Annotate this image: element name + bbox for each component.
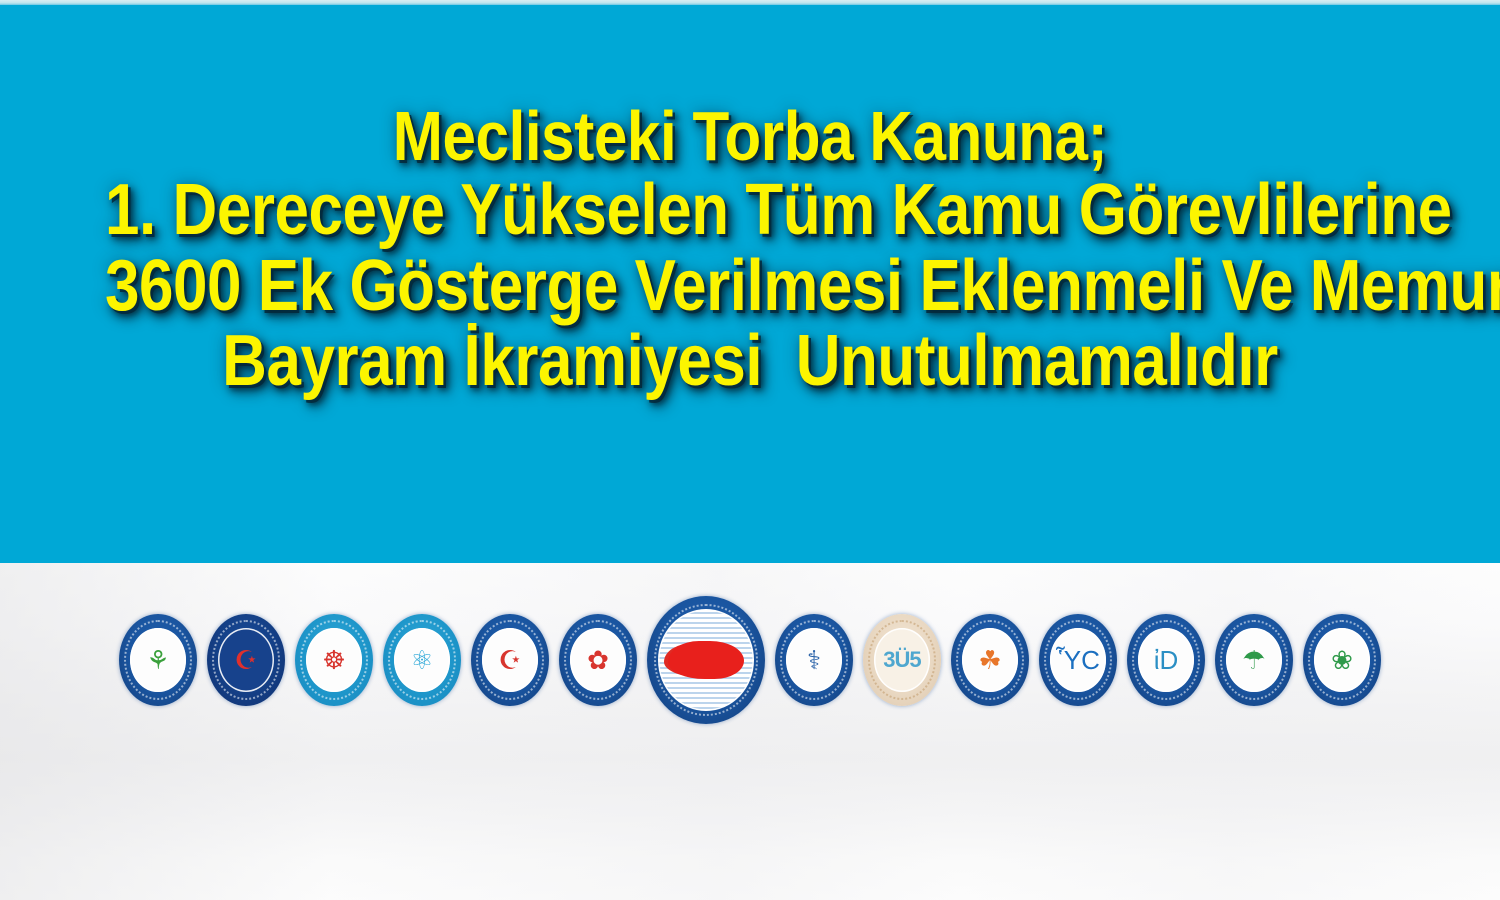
logo-inner-disc: ☘ bbox=[962, 628, 1018, 692]
logo-egitim-bir-sen: ☸ bbox=[295, 614, 373, 706]
logo-emblem-icon: ⚘ bbox=[146, 647, 169, 673]
logo-inner-disc bbox=[658, 609, 755, 711]
logo-emblem-icon: ☪ bbox=[498, 647, 521, 673]
logo-ozgur-egitim-sen: ☂ bbox=[1215, 614, 1293, 706]
logo-ulastirma-memur-sen: ἰD bbox=[1127, 614, 1205, 706]
logo-saglik-sen: ⚕ bbox=[775, 614, 853, 706]
logo-inner-disc: ✿ bbox=[570, 628, 626, 692]
headline-line-1: Meclisteki Torba Kanuna; bbox=[105, 101, 1395, 172]
logo-emblem-icon: ✿ bbox=[587, 647, 609, 673]
logo-diyanet-sen: ☪ bbox=[471, 614, 549, 706]
campaign-poster: Meclisteki Torba Kanuna; 1. Dereceye Yük… bbox=[0, 0, 1500, 900]
logo-emblem-icon: ❀ bbox=[1331, 647, 1353, 673]
logo-inner-disc: ὟC bbox=[1050, 628, 1106, 692]
headline-block: Meclisteki Torba Kanuna; 1. Dereceye Yük… bbox=[0, 5, 1500, 563]
logo-emblem-icon: ⚕ bbox=[807, 647, 821, 673]
logo-enerji-bir-sen: ⚛ bbox=[383, 614, 461, 706]
logo-emblem-icon: ☪ bbox=[234, 647, 257, 673]
logo-buro-memur-sen: ⚘ bbox=[119, 614, 197, 706]
logo-inner-disc: 3Ü5 bbox=[874, 628, 930, 692]
logo-emblem-icon: ☘ bbox=[978, 647, 1001, 673]
logo-kultur-memur-sen: ✿ bbox=[559, 614, 637, 706]
logo-inner-disc: ☪ bbox=[482, 628, 538, 692]
logo-inner-disc: ☂ bbox=[1226, 628, 1282, 692]
logo-birlik-haber-sen: ὟC bbox=[1039, 614, 1117, 706]
logo-inner-disc: ☸ bbox=[306, 628, 362, 692]
logo-inner-disc: ❀ bbox=[1314, 628, 1370, 692]
logo-inner-disc: ⚕ bbox=[786, 628, 842, 692]
union-logo-strip: ⚘☪☸⚛☪✿⚕3Ü5☘ὟCἰD☂❀ bbox=[0, 600, 1500, 720]
turkey-map-icon bbox=[668, 641, 743, 680]
headline-line-3: 3600 Ek Gösterge Verilmesi Eklenmeli Ve … bbox=[105, 250, 1395, 323]
logo-hizmet-sen: ❀ bbox=[1303, 614, 1381, 706]
logo-inner-disc: ⚛ bbox=[394, 628, 450, 692]
logo-bayindir-memur-sen: 3Ü5 bbox=[863, 614, 941, 706]
headline-line-2: 1. Dereceye Yükselen Tüm Kamu Görevliler… bbox=[105, 174, 1395, 247]
logo-emblem-icon: ὟC bbox=[1056, 647, 1100, 673]
logo-bem-bir-sen: ☘ bbox=[951, 614, 1029, 706]
headline-banner: Meclisteki Torba Kanuna; 1. Dereceye Yük… bbox=[0, 5, 1500, 563]
logo-memur-sen bbox=[647, 596, 765, 724]
logo-emblem-icon: ἰD bbox=[1154, 647, 1179, 673]
logo-emblem-icon: ⚛ bbox=[410, 647, 433, 673]
headline-line-4: Bayram İkramiyesi Unutulmamalıdır bbox=[105, 325, 1395, 398]
logo-inner-disc: ἰD bbox=[1138, 628, 1194, 692]
logo-toc-bir-sen: ☪ bbox=[207, 614, 285, 706]
logo-emblem-icon: ☸ bbox=[322, 647, 345, 673]
logo-inner-disc: ⚘ bbox=[130, 628, 186, 692]
logo-emblem-icon: ☂ bbox=[1242, 647, 1265, 673]
logo-emblem-icon: 3Ü5 bbox=[883, 649, 920, 671]
logo-inner-disc: ☪ bbox=[218, 628, 274, 692]
